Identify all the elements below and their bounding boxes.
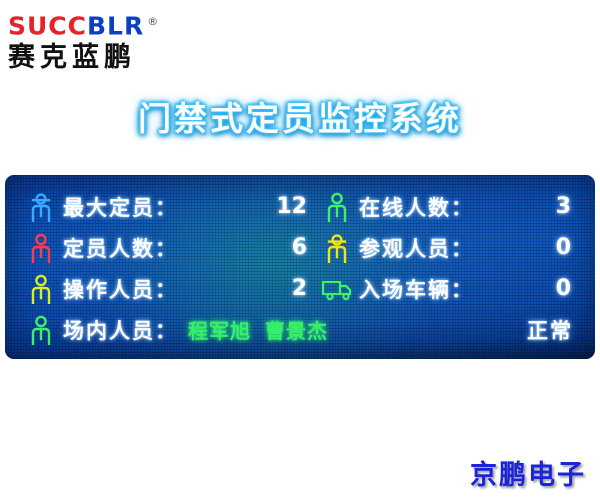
brand-logo: SUCCBLR® 赛克蓝鹏	[8, 8, 228, 74]
led-cell-online-count: 在线人数： 3	[315, 192, 579, 222]
led-value: 0	[531, 276, 579, 301]
person-with-cap-icon	[315, 233, 359, 263]
footer-brand: 京鹏电子	[470, 453, 586, 492]
led-value: 0	[531, 235, 579, 260]
led-grid: 最大定员： 12 在线人数： 3	[5, 175, 595, 359]
onsite-name-list: 程军旭曹景杰	[178, 315, 527, 344]
led-cell-quota-count: 定员人数： 6	[19, 233, 315, 263]
truck-icon	[315, 276, 359, 302]
led-cell-operator-count: 操作人员： 2	[19, 274, 315, 304]
status-badge: 正常	[527, 315, 581, 345]
brand-wordmark-blue: BLR	[87, 11, 144, 40]
registered-trademark-icon: ®	[147, 15, 159, 28]
led-label: 参观人员：	[359, 233, 531, 263]
brand-wordmark: SUCCBLR®	[8, 8, 228, 40]
person-icon	[315, 192, 359, 222]
list-item: 曹景杰	[265, 319, 328, 343]
person-icon	[19, 274, 63, 304]
led-value: 3	[531, 194, 579, 219]
led-label: 入场车辆：	[359, 274, 531, 304]
table-row: 操作人员： 2 入场车辆： 0	[19, 269, 581, 308]
led-cell-max-capacity: 最大定员： 12	[19, 192, 315, 222]
brand-chinese-name: 赛克蓝鹏	[8, 41, 228, 75]
led-value: 12	[267, 194, 315, 219]
person-icon	[19, 315, 63, 345]
led-cell-visitor-count: 参观人员： 0	[315, 233, 579, 263]
led-label: 最大定员：	[63, 192, 267, 222]
led-label-onsite: 场内人员：	[63, 315, 178, 345]
table-row: 最大定员： 12 在线人数： 3	[19, 187, 581, 226]
led-label: 定员人数：	[63, 233, 267, 263]
led-value: 6	[267, 235, 315, 260]
led-label: 操作人员：	[63, 274, 267, 304]
list-item: 程军旭	[188, 319, 251, 343]
table-row: 场内人员： 程军旭曹景杰 正常	[19, 310, 581, 349]
led-value: 2	[267, 276, 315, 301]
brand-wordmark-red: SUCC	[8, 11, 87, 40]
led-cell-vehicle-count: 入场车辆： 0	[315, 274, 579, 304]
person-icon	[19, 233, 63, 263]
page-title: 门禁式定员监控系统	[0, 92, 600, 140]
led-display-panel: 最大定员： 12 在线人数： 3	[5, 175, 595, 359]
table-row: 定员人数： 6 参观人员： 0	[19, 228, 581, 267]
led-label: 在线人数：	[359, 192, 531, 222]
person-with-cap-icon	[19, 192, 63, 222]
